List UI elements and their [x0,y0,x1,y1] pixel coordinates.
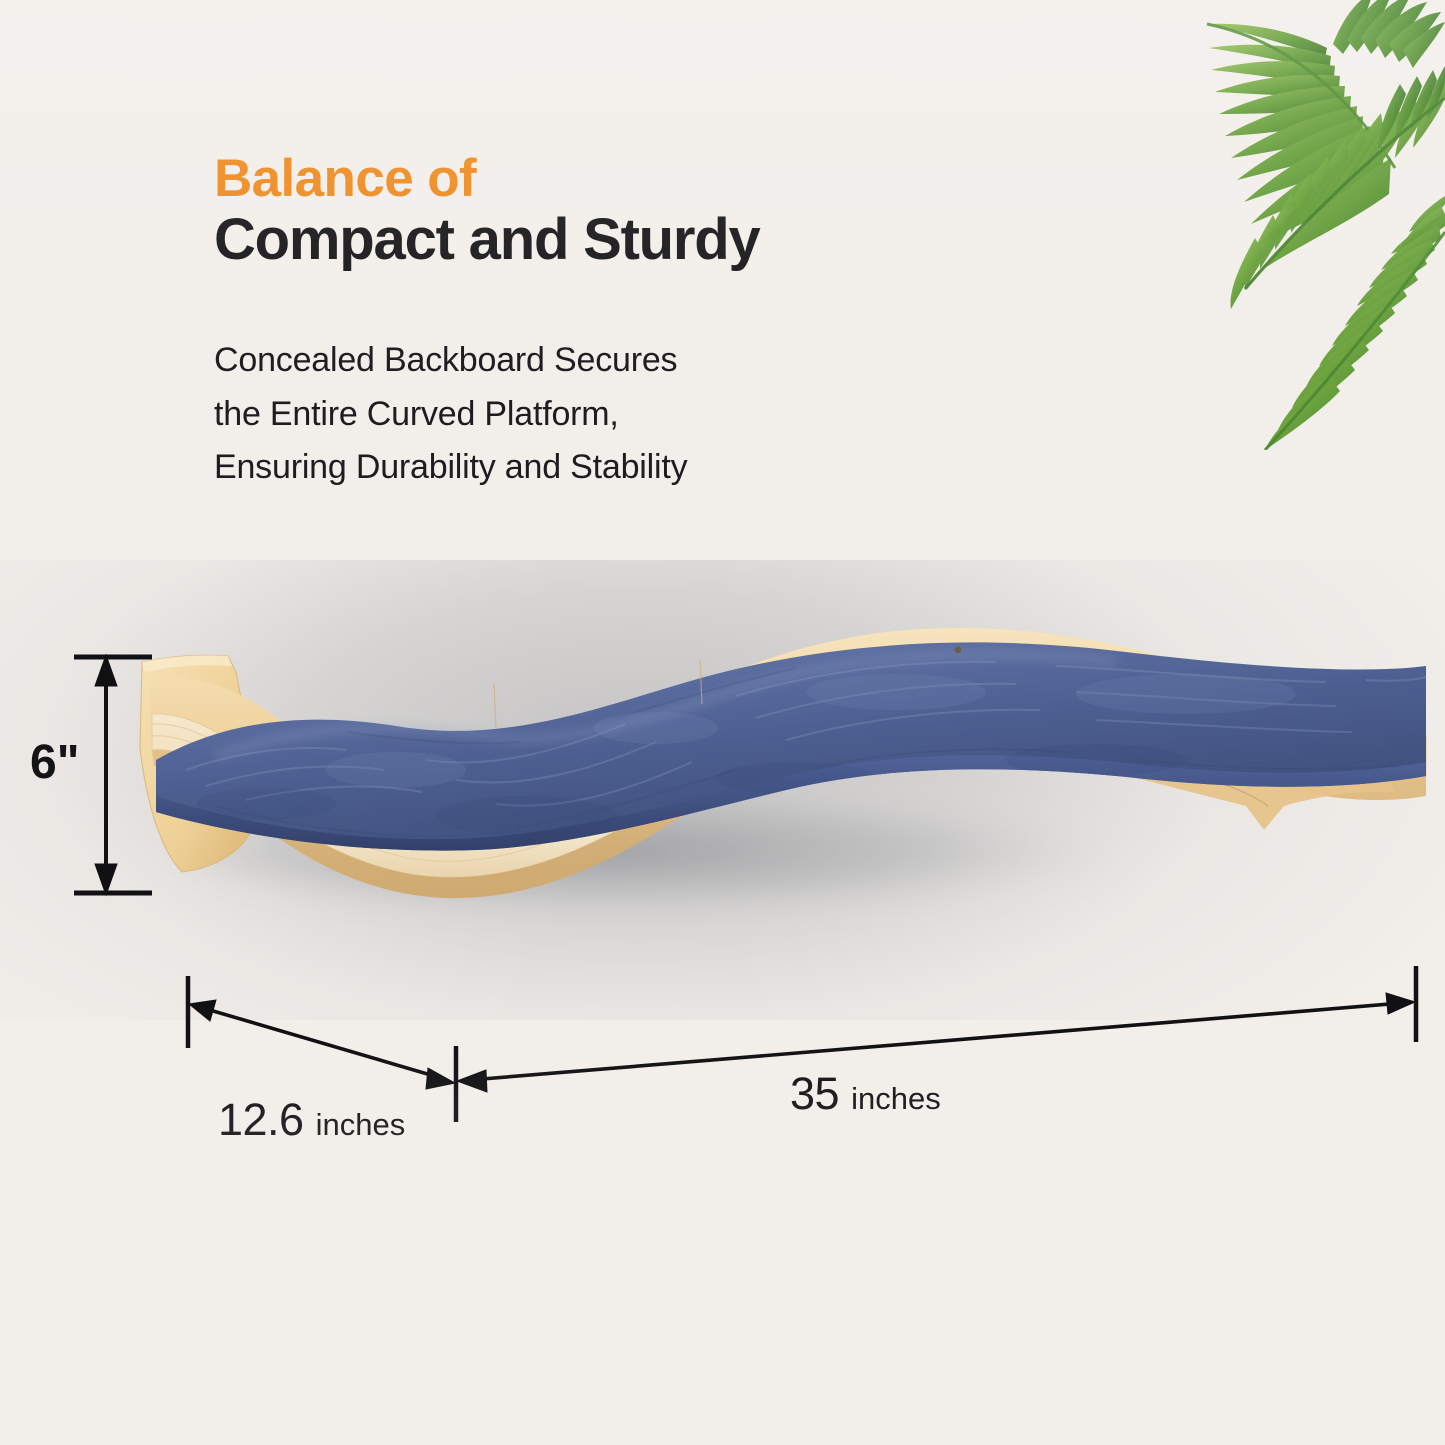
dimension-depth-value: 12.6 [218,1094,304,1145]
infographic-canvas: Balance of Compact and Sturdy Concealed … [0,0,1445,1445]
subcopy-line-2: the Entire Curved Platform, [214,388,874,442]
product-image-curved-cat-shelf [96,600,1436,940]
headline-main: Compact and Sturdy [214,211,1014,269]
dimension-label-depth: 12.6 inches [218,1094,405,1146]
dimension-width-value: 35 [790,1068,839,1119]
dimension-width-unit: inches [851,1081,941,1116]
subcopy-line-1: Concealed Backboard Secures [214,334,874,388]
headline-block: Balance of Compact and Sturdy [214,152,1014,269]
headline-kicker: Balance of [214,152,1014,205]
subcopy-line-3: Ensuring Durability and Stability [214,441,874,495]
fastener-screw [955,647,962,654]
dimension-label-width: 35 inches [790,1068,941,1120]
dimension-depth-unit: inches [316,1107,406,1142]
subcopy-block: Concealed Backboard Secures the Entire C… [214,334,874,495]
dimension-label-height: 6" [30,735,79,790]
